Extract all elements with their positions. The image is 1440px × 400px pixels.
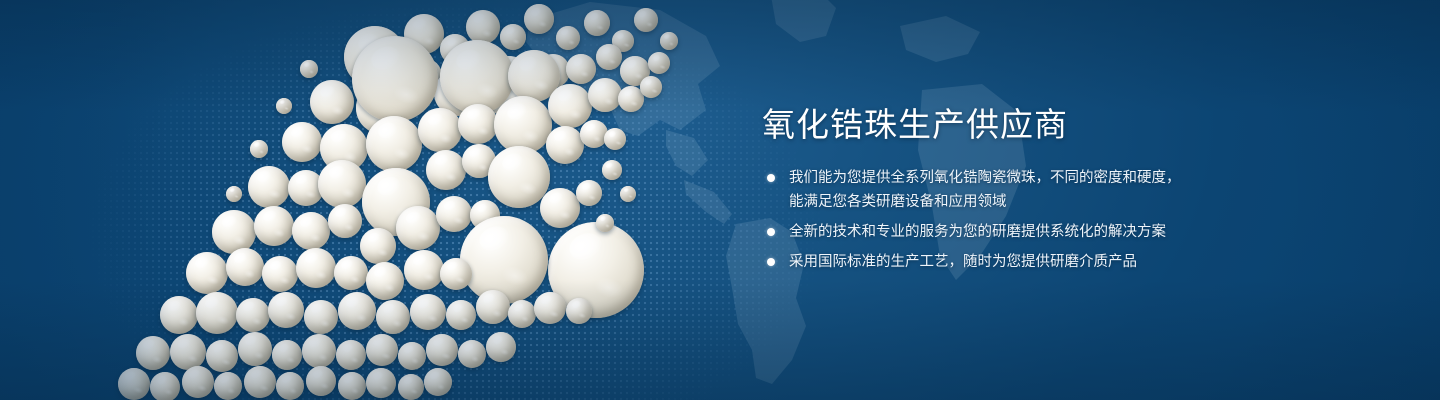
bullet-item-3: 采用国际标准的生产工艺，随时为您提供研磨介质产品 <box>762 250 1382 274</box>
bullet-text-line: 全新的技术和专业的服务为您的研磨提供系统化的解决方案 <box>789 220 1382 244</box>
bullet-dot-icon <box>767 258 775 266</box>
bullet-item-2: 全新的技术和专业的服务为您的研磨提供系统化的解决方案 <box>762 220 1382 244</box>
bullet-item-1: 我们能为您提供全系列氧化锆陶瓷微珠，不同的密度和硬度， 能满足您各类研磨设备和应… <box>762 166 1382 214</box>
bullet-dot-icon <box>767 228 775 236</box>
banner-headline: 氧化锆珠生产供应商 <box>762 104 1382 146</box>
banner-bullet-list: 我们能为您提供全系列氧化锆陶瓷微珠，不同的密度和硬度， 能满足您各类研磨设备和应… <box>762 166 1382 274</box>
hero-banner: 氧化锆珠生产供应商 我们能为您提供全系列氧化锆陶瓷微珠，不同的密度和硬度， 能满… <box>0 0 1440 400</box>
bullet-dot-icon <box>767 174 775 182</box>
bullet-text-line: 采用国际标准的生产工艺，随时为您提供研磨介质产品 <box>789 250 1382 274</box>
banner-copy: 氧化锆珠生产供应商 我们能为您提供全系列氧化锆陶瓷微珠，不同的密度和硬度， 能满… <box>762 104 1382 274</box>
bullet-text-line: 能满足您各类研磨设备和应用领域 <box>789 190 1382 214</box>
bullet-text-line: 我们能为您提供全系列氧化锆陶瓷微珠，不同的密度和硬度， <box>789 166 1382 190</box>
